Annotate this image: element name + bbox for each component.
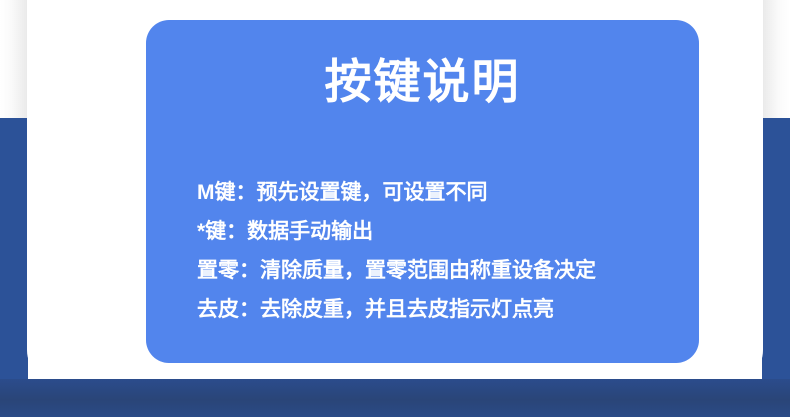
instruction-line: 去皮：去除皮重，并且去皮指示灯点亮 — [197, 290, 697, 329]
instruction-line: M键：预先设置键，可设置不同 — [197, 173, 697, 212]
white-content-card: 按键说明 M键：预先设置键，可设置不同 *键：数据手动输出 置零：清除质量，置零… — [27, 0, 763, 384]
instruction-line: 置零：清除质量，置零范围由称重设备决定 — [197, 251, 697, 290]
key-instructions-panel: 按键说明 M键：预先设置键，可设置不同 *键：数据手动输出 置零：清除质量，置零… — [146, 20, 699, 363]
promo-page: 按键说明 M键：预先设置键，可设置不同 *键：数据手动输出 置零：清除质量，置零… — [0, 0, 790, 417]
instruction-list: M键：预先设置键，可设置不同 *键：数据手动输出 置零：清除质量，置零范围由称重… — [197, 173, 697, 329]
right-edge-gradient-strip — [762, 0, 790, 119]
bottom-navy-band — [0, 379, 790, 417]
instruction-line: *键：数据手动输出 — [197, 212, 697, 251]
right-navy-band — [762, 118, 790, 417]
panel-title: 按键说明 — [146, 56, 699, 109]
left-navy-band — [0, 118, 28, 417]
left-edge-gradient-strip — [0, 0, 28, 119]
